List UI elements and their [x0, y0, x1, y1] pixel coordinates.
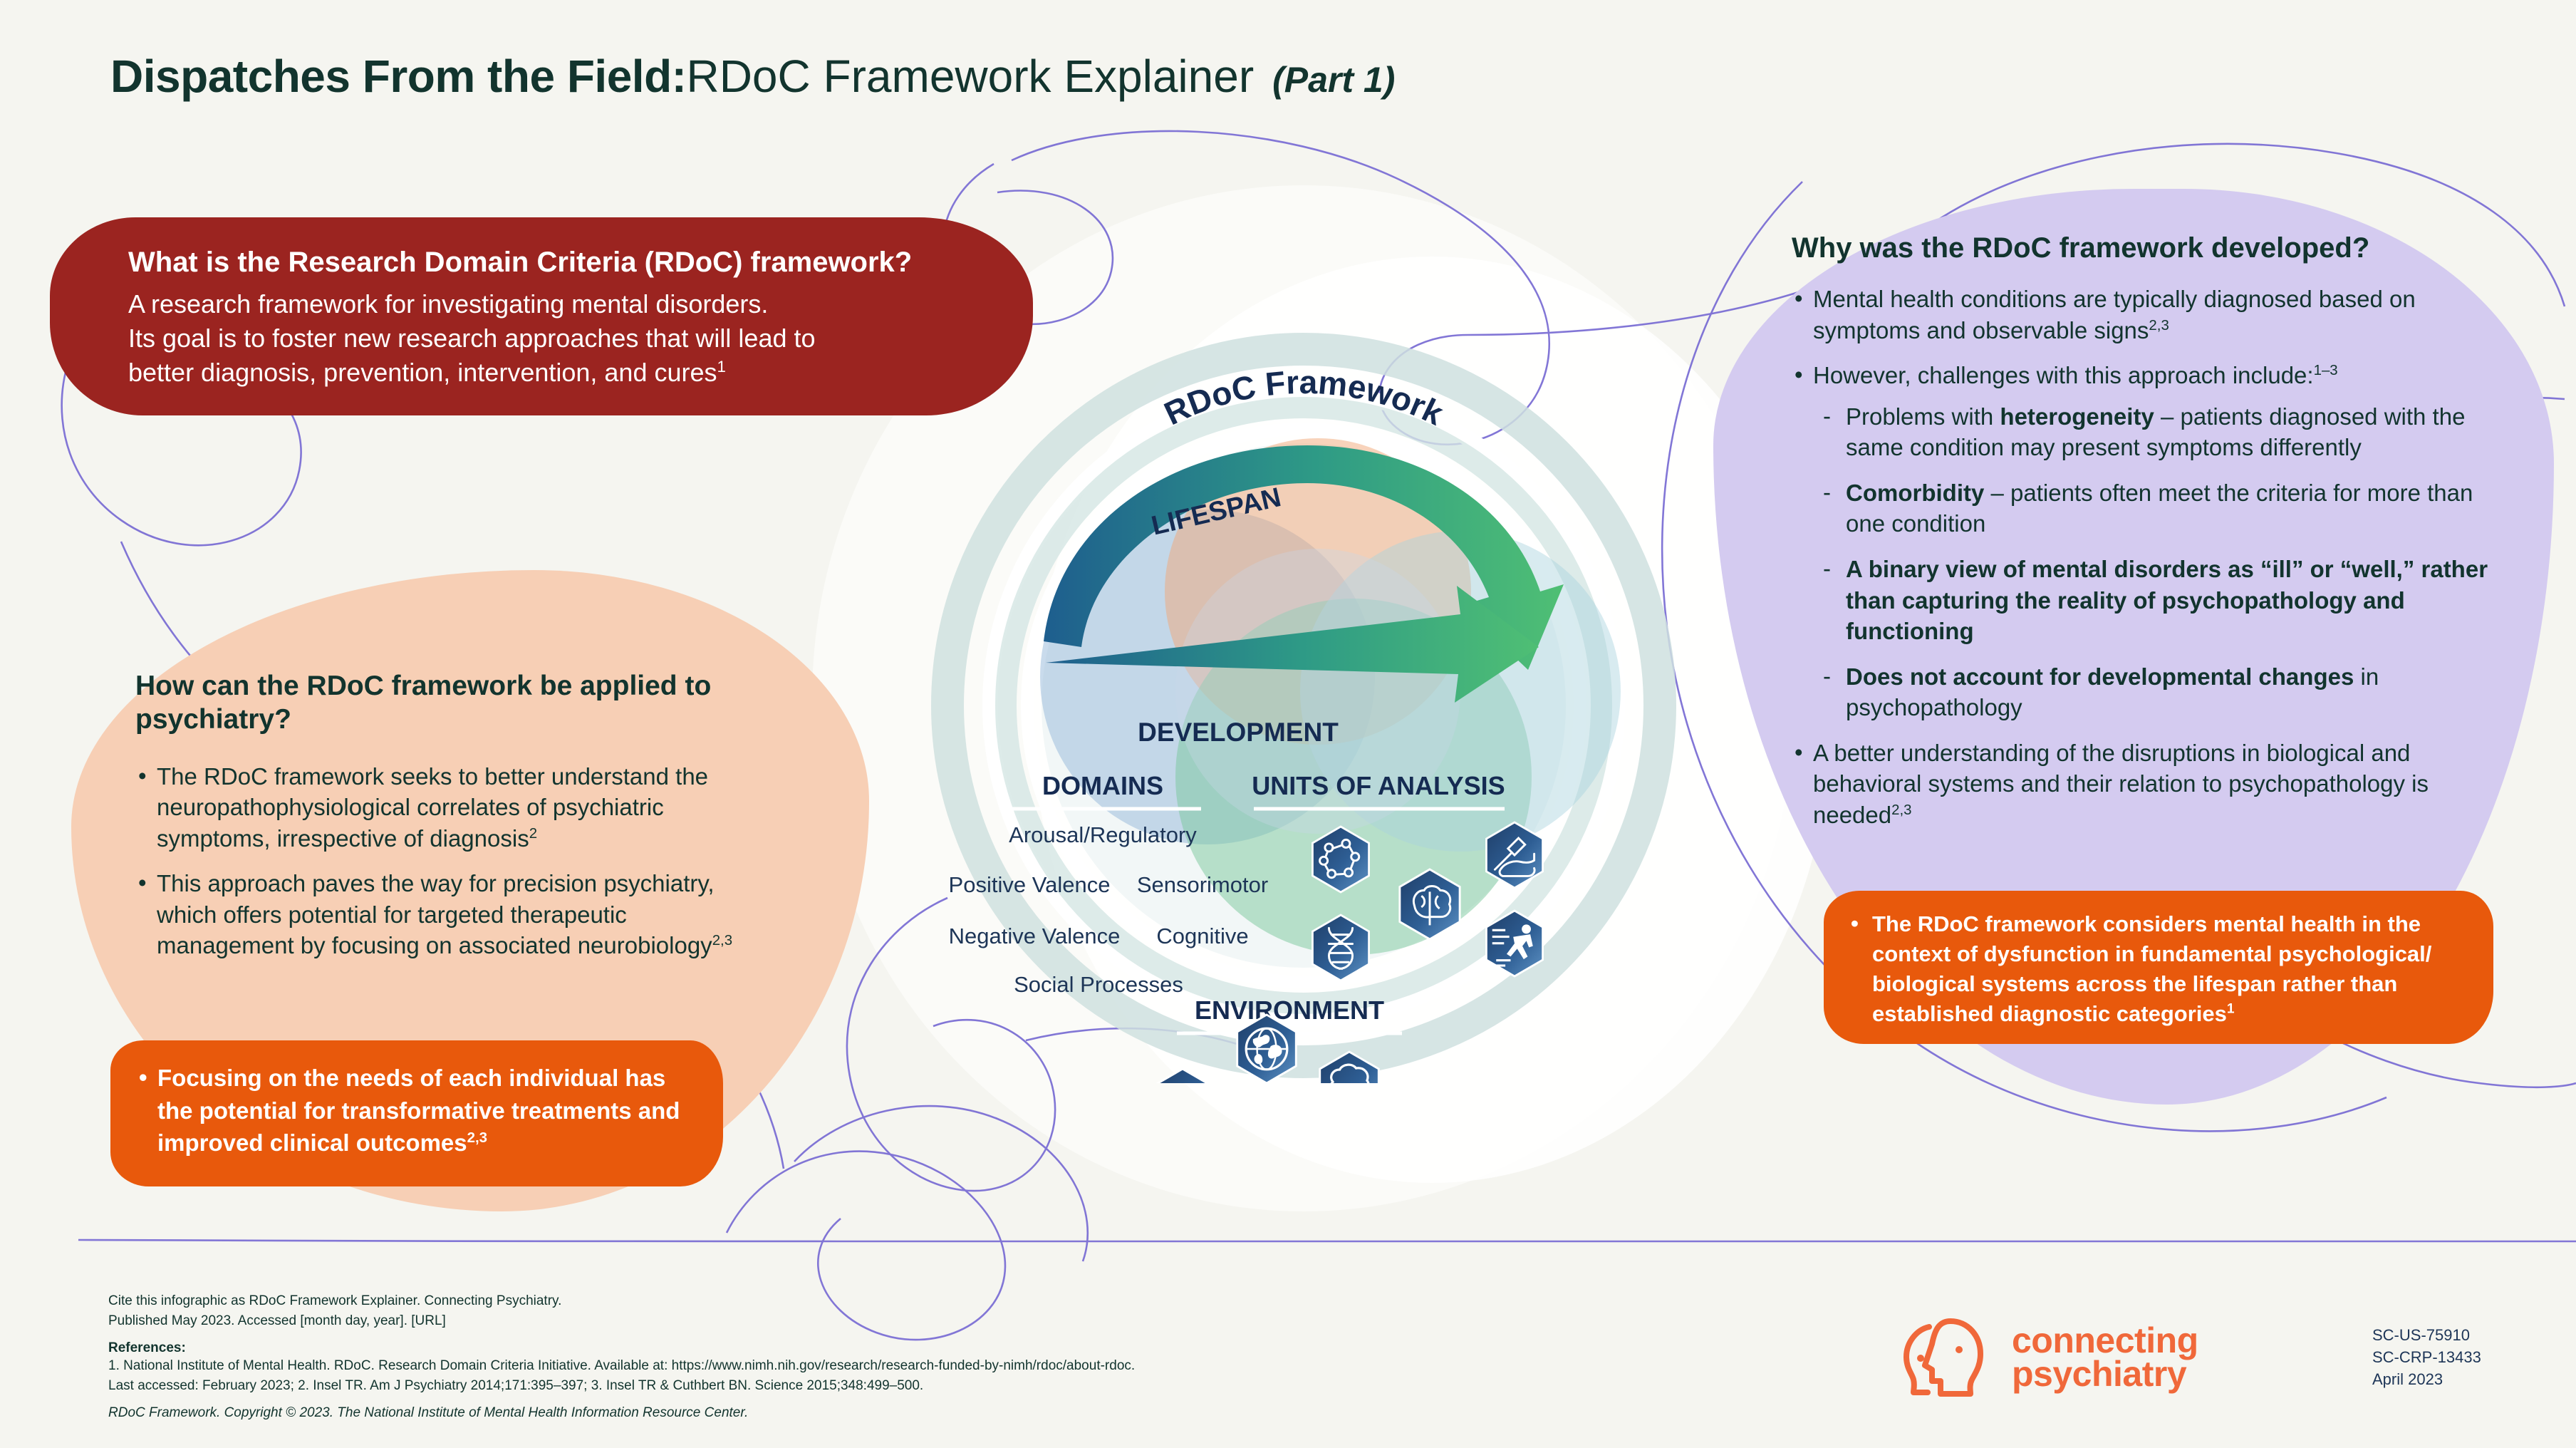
sub-bullet-2-bold: Comorbidity: [1846, 480, 1984, 506]
how-applied-callout-text: Focusing on the needs of each individual…: [157, 1065, 680, 1156]
logo-line-2: psychiatry: [2012, 1357, 2198, 1392]
domain-negative-valence: Negative Valence: [949, 924, 1121, 948]
domain-positive-valence: Positive Valence: [949, 872, 1111, 897]
how-applied-callout-list: Focusing on the needs of each individual…: [136, 1062, 687, 1159]
page-title: Dispatches From the Field: RDoC Framewor…: [110, 50, 1395, 103]
domains-label: DOMAINS: [1042, 771, 1163, 800]
list-item: A binary view of mental disorders as “il…: [1813, 554, 2504, 647]
what-is-rdoc-line-3-text: better diagnosis, prevention, interventi…: [128, 358, 717, 387]
what-is-rdoc-line-2: Its goal is to foster new research appro…: [128, 321, 990, 356]
environment-label: ENVIRONMENT: [1195, 995, 1384, 1025]
why-developed-callout-text: The RDoC framework considers mental heal…: [1872, 911, 2431, 1026]
how-applied-bullet-2-ref: 2,3: [712, 932, 732, 948]
logo-line-1: connecting: [2012, 1324, 2198, 1358]
footer: Cite this infographic as RDoC Framework …: [108, 1291, 1604, 1421]
how-applied-heading: How can the RDoC framework be applied to…: [135, 670, 762, 737]
how-applied-bullet-list: The RDoC framework seeks to better under…: [135, 761, 762, 961]
list-item: Focusing on the needs of each individual…: [136, 1062, 687, 1159]
list-item: A better understanding of the disruption…: [1792, 738, 2504, 831]
why-developed-bullet-1-ref: 2,3: [2149, 317, 2169, 333]
sub-bullet-4-bold: Does not account for developmental chang…: [1846, 663, 2354, 690]
citation-line-1: Cite this infographic as RDoC Framework …: [108, 1291, 1604, 1311]
list-item: The RDoC framework seeks to better under…: [135, 761, 762, 854]
why-developed-callout-ref: 1: [2227, 1002, 2235, 1017]
why-developed-sub-list: Problems with heterogeneity – patients d…: [1813, 401, 2504, 723]
title-regular: RDoC Framework Explainer: [686, 50, 1254, 103]
reference-line-1: 1. National Institute of Mental Health. …: [108, 1356, 1604, 1376]
copyright-line: RDoC Framework. Copyright © 2023. The Na…: [108, 1405, 1604, 1421]
list-item: Comorbidity – patients often meet the cr…: [1813, 477, 2504, 539]
list-item: Problems with heterogeneity – patients d…: [1813, 401, 2504, 463]
how-applied-callout: Focusing on the needs of each individual…: [110, 1040, 723, 1186]
diagram-graphic: RDoC Framework LIFESPAN DEVELOPMENT DOMA…: [919, 306, 1688, 1083]
building-icon: [1153, 1069, 1212, 1083]
units-label: UNITS OF ANALYSIS: [1252, 771, 1505, 800]
connecting-psychiatry-logo: connecting psychiatry: [1888, 1311, 2216, 1411]
why-developed-callout-list: The RDoC framework considers mental heal…: [1848, 909, 2469, 1030]
what-is-rdoc-line-3: better diagnosis, prevention, interventi…: [128, 356, 990, 390]
development-label: DEVELOPMENT: [1138, 718, 1339, 747]
list-item: This approach paves the way for precisio…: [135, 868, 762, 961]
how-applied-callout-ref: 2,3: [467, 1129, 487, 1146]
how-applied-card: How can the RDoC framework be applied to…: [135, 670, 762, 976]
rdoc-framework-diagram: RDoC Framework LIFESPAN DEVELOPMENT DOMA…: [919, 306, 1688, 1083]
why-developed-bullet-3-ref: 2,3: [1891, 802, 1911, 818]
citation-line-2: Published May 2023. Accessed [month day,…: [108, 1311, 1604, 1331]
list-item: The RDoC framework considers mental heal…: [1848, 909, 2469, 1030]
title-part-label: (Part 1): [1272, 59, 1395, 100]
document-codes: SC-US-75910 SC-CRP-13433 April 2023: [2372, 1324, 2481, 1391]
sub-bullet-3-bold: A binary view of mental disorders as “il…: [1846, 556, 2488, 644]
domain-social-processes: Social Processes: [1014, 972, 1183, 997]
how-applied-bullet-2-text: This approach paves the way for precisio…: [157, 870, 715, 958]
list-item: Does not account for developmental chang…: [1813, 661, 2504, 723]
what-is-rdoc-line-1: A research framework for investigating m…: [128, 287, 990, 321]
what-is-rdoc-heading: What is the Research Domain Criteria (RD…: [128, 246, 990, 279]
two-heads-icon: [1888, 1311, 1995, 1404]
why-developed-callout: The RDoC framework considers mental heal…: [1824, 891, 2493, 1044]
why-developed-bullet-2-ref: 1–3: [2314, 362, 2338, 378]
how-applied-bullet-1-ref: 2: [529, 825, 537, 842]
list-item: However, challenges with this approach i…: [1792, 360, 2504, 723]
why-developed-bullet-2-text: However, challenges with this approach i…: [1813, 362, 2314, 388]
list-item: Mental health conditions are typically d…: [1792, 284, 2504, 346]
reference-line-2: Last accessed: February 2023; 2. Insel T…: [108, 1376, 1604, 1396]
why-developed-bullet-1-text: Mental health conditions are typically d…: [1813, 286, 2416, 343]
what-is-rdoc-line-3-ref: 1: [717, 358, 726, 376]
why-developed-card: Why was the RDoC framework developed? Me…: [1792, 232, 2504, 844]
code-us: SC-US-75910: [2372, 1324, 2481, 1346]
what-is-rdoc-card: What is the Research Domain Criteria (RD…: [50, 217, 1033, 415]
domain-sensorimotor: Sensorimotor: [1137, 872, 1268, 897]
title-bold: Dispatches From the Field:: [110, 50, 686, 103]
domain-arousal-regulatory: Arousal/Regulatory: [1009, 822, 1197, 847]
sub-bullet-1-bold: heterogeneity: [2000, 403, 2154, 430]
references-heading: References:: [108, 1340, 1604, 1356]
sub-bullet-1-pre: Problems with: [1846, 403, 2000, 430]
how-applied-bullet-1-text: The RDoC framework seeks to better under…: [157, 763, 708, 852]
code-date: April 2023: [2372, 1368, 2481, 1390]
code-crp: SC-CRP-13433: [2372, 1346, 2481, 1368]
why-developed-heading: Why was the RDoC framework developed?: [1792, 232, 2504, 265]
why-developed-bullet-list: Mental health conditions are typically d…: [1792, 284, 2504, 830]
domain-cognitive: Cognitive: [1156, 924, 1248, 948]
